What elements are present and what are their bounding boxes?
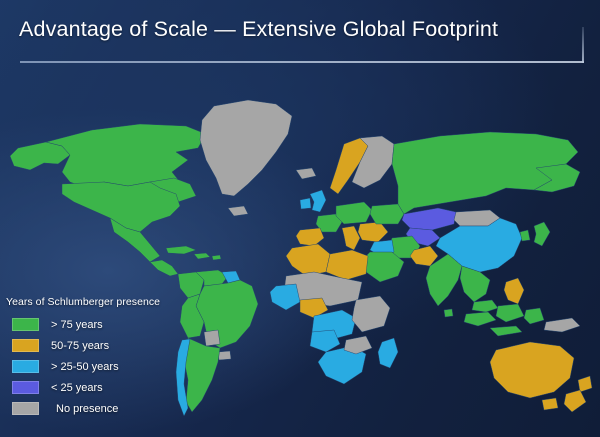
- page-title: Advantage of Scale — Extensive Global Fo…: [19, 17, 498, 42]
- region-balkans: [358, 222, 388, 242]
- region-sri-lanka: [444, 309, 453, 317]
- region-japan: [534, 222, 550, 246]
- region-zimbabwe: [344, 336, 372, 354]
- region-angola: [310, 330, 340, 352]
- region-malaysia: [472, 300, 498, 312]
- region-central-america: [150, 260, 178, 276]
- legend-label-25-50-years: > 25-50 years: [51, 361, 119, 373]
- legend-swatch-50-75-years: [12, 339, 39, 352]
- region-indonesia-java: [490, 326, 522, 336]
- legend-title: Years of Schlumberger presence: [6, 296, 179, 308]
- legend-swatch-25-50-years: [12, 360, 39, 373]
- legend-label-no-presence: No presence: [56, 403, 118, 415]
- region-australia: [490, 342, 574, 398]
- region-caribbean-hispaniola: [194, 253, 210, 259]
- region-indonesia-sulawesi: [524, 308, 544, 324]
- map-legend: Years of Schlumberger presence > 75 year…: [4, 296, 179, 419]
- region-alaska: [10, 142, 70, 170]
- legend-item-gt-75-years: > 75 years: [4, 314, 179, 335]
- region-argentina: [184, 338, 220, 412]
- region-iceland: [296, 168, 316, 179]
- region-indonesia-sumatra: [464, 312, 496, 326]
- region-libya-egypt: [326, 250, 368, 280]
- region-kazakhstan: [402, 208, 456, 230]
- legend-label-50-75-years: 50-75 years: [51, 340, 109, 352]
- legend-swatch-lt-25-years: [12, 381, 39, 394]
- region-greenland: [200, 100, 292, 196]
- region-new-zealand-south: [564, 390, 586, 412]
- legend-label-gt-75-years: > 75 years: [51, 319, 103, 331]
- region-madagascar: [378, 338, 398, 368]
- region-tasmania: [542, 398, 558, 410]
- region-paraguay: [204, 330, 220, 346]
- region-papua-new-guinea: [544, 318, 580, 332]
- region-germany-poland: [336, 202, 372, 224]
- region-spain-portugal: [296, 228, 324, 246]
- region-united-states: [62, 182, 180, 232]
- legend-item-no-presence: No presence: [4, 398, 179, 419]
- region-uruguay: [218, 351, 231, 360]
- region-united-kingdom: [310, 190, 326, 212]
- region-caribbean-pr: [212, 255, 221, 260]
- region-morocco-algeria: [286, 244, 330, 276]
- region-ireland: [300, 198, 311, 209]
- region-saudi-arabia: [362, 252, 404, 282]
- region-korea: [520, 230, 530, 241]
- region-caribbean-cuba: [166, 246, 196, 254]
- region-canada: [46, 124, 206, 188]
- region-east-africa: [352, 296, 390, 332]
- region-southeast-asia: [460, 266, 490, 302]
- slide-canvas: Advantage of Scale — Extensive Global Fo…: [0, 0, 600, 437]
- title-rule-corner-tick: [582, 27, 584, 63]
- region-ukraine: [370, 204, 404, 224]
- legend-item-50-75-years: 50-75 years: [4, 335, 179, 356]
- region-indonesia-borneo: [496, 304, 524, 322]
- legend-item-25-50-years: > 25-50 years: [4, 356, 179, 377]
- region-philippines: [504, 278, 524, 304]
- legend-swatch-no-presence: [12, 402, 39, 415]
- region-west-africa: [270, 284, 300, 310]
- region-italy: [342, 226, 360, 250]
- legend-item-lt-25-years: < 25 years: [4, 377, 179, 398]
- legend-swatch-gt-75-years: [12, 318, 39, 331]
- region-new-zealand-north: [578, 376, 592, 392]
- region-greenland-isle: [228, 206, 248, 216]
- legend-label-lt-25-years: < 25 years: [51, 382, 103, 394]
